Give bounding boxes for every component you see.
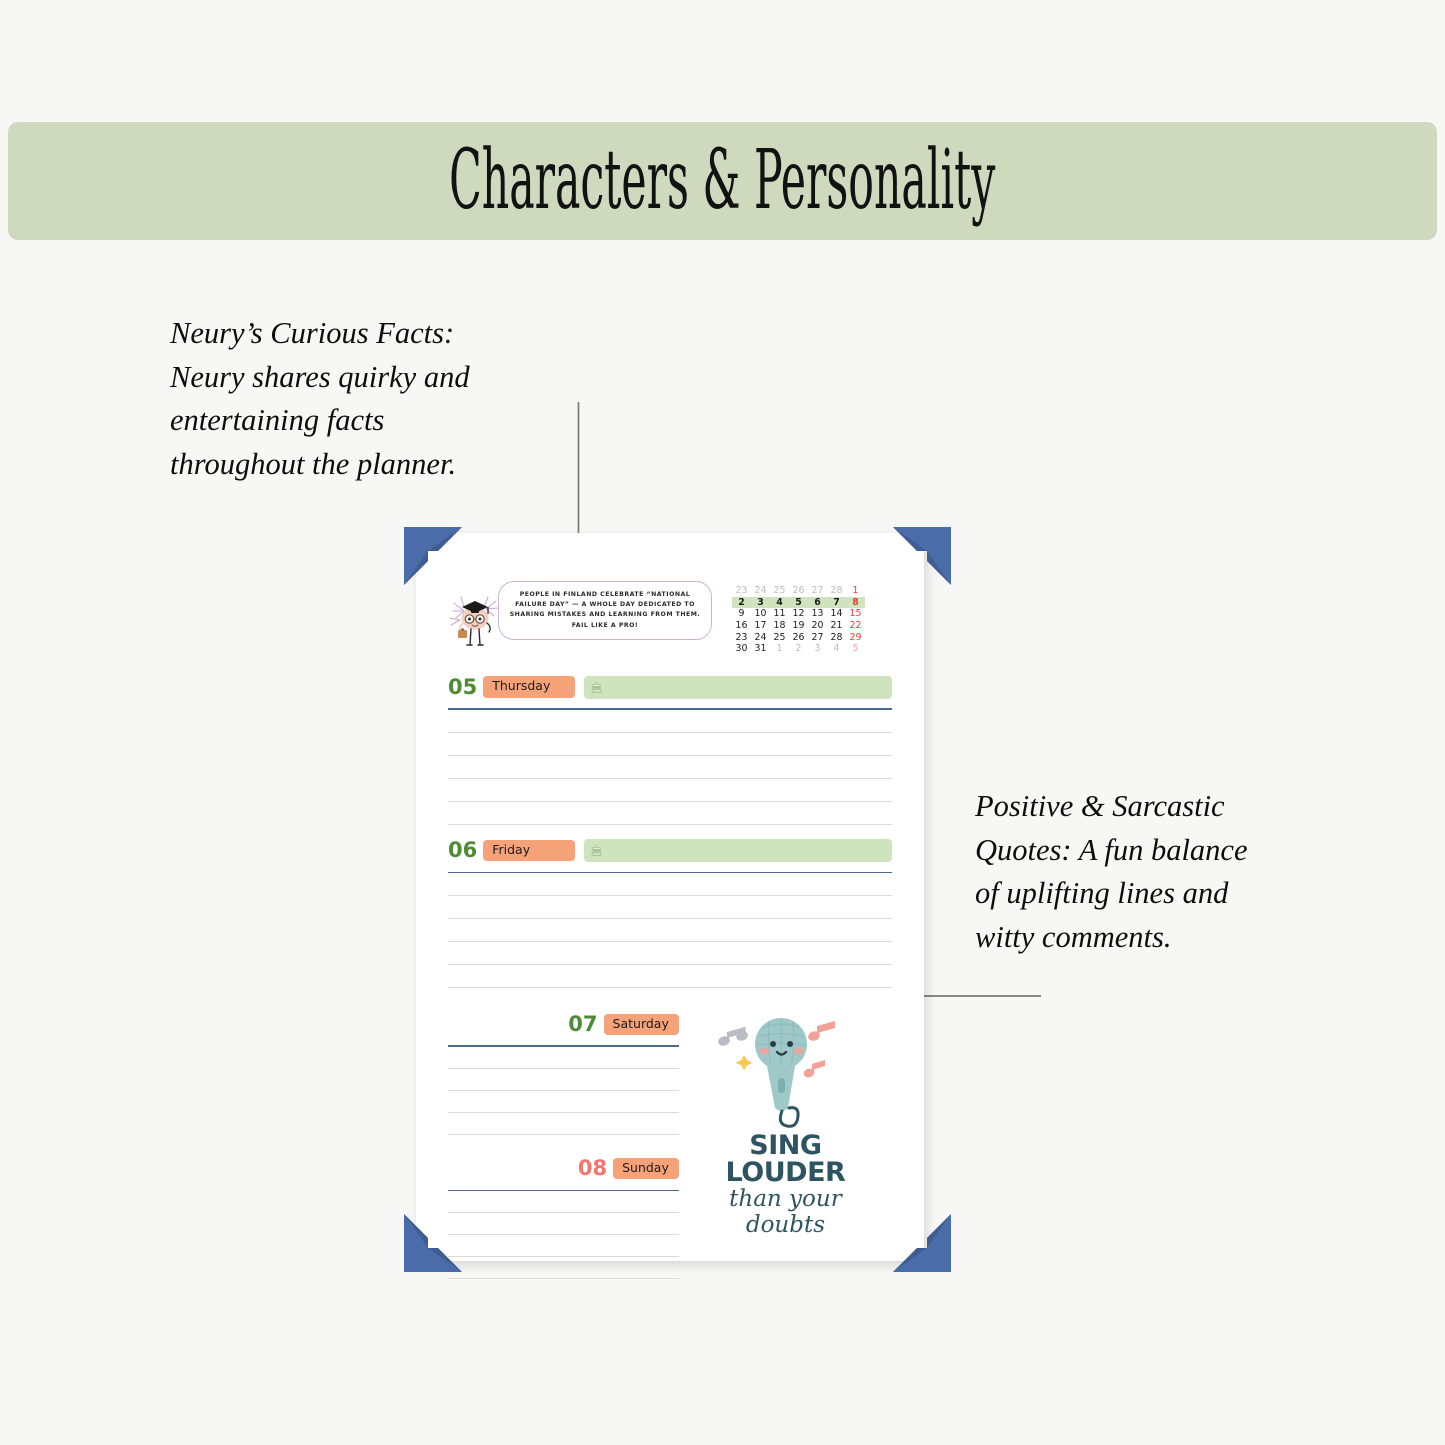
calendar-day-cell[interactable]: 4 [827, 643, 846, 655]
calendar-day-cell[interactable]: 6 [808, 597, 827, 609]
quote-script-line-1: than your [729, 1186, 842, 1212]
photo-corner-top-left [404, 527, 462, 585]
day-name-pill-friday[interactable]: Friday [483, 840, 575, 861]
calendar-day-cell[interactable]: 23 [732, 585, 751, 597]
calendar-day-cell[interactable]: 10 [751, 608, 770, 620]
rule-line [448, 778, 892, 779]
rule-line [448, 1134, 679, 1135]
quote-line-2: LOUDER [726, 1159, 846, 1186]
day-header-sunday: 08 Sunday [448, 1157, 679, 1181]
day-block-saturday: 07 Saturday [448, 1012, 679, 1135]
day-number-friday: 06 [448, 840, 477, 861]
rule-line [448, 1212, 679, 1213]
page-title: Characters & Personality [449, 140, 995, 222]
mini-calendar: 2324252627281234567891011121314151617181… [732, 585, 865, 655]
calendar-day-cell[interactable]: 24 [751, 631, 770, 643]
quote-line-1: SING [749, 1132, 821, 1159]
rule-line [448, 801, 892, 802]
rule-line [448, 1090, 679, 1091]
planner-bottom-split: 07 Saturday 08 Sunday [448, 998, 892, 1279]
event-bar-friday[interactable] [584, 839, 892, 862]
calendar-day-cell[interactable]: 29 [846, 631, 865, 643]
day-header-saturday: 07 Saturday [448, 1012, 679, 1036]
calendar-day-cell[interactable]: 30 [732, 643, 751, 655]
day-block-friday: 06 Friday [448, 839, 892, 989]
calendar-day-cell[interactable]: 2 [732, 597, 751, 609]
photo-corner-top-right [893, 527, 951, 585]
rule-navy [448, 1190, 679, 1192]
calendar-day-cell[interactable]: 31 [751, 643, 770, 655]
rule-line [448, 895, 892, 896]
calendar-day-cell[interactable]: 12 [789, 608, 808, 620]
neury-curious-facts-annotation: Neury’s Curious Facts: Neury shares quir… [170, 312, 570, 486]
calendar-day-cell[interactable]: 9 [732, 608, 751, 620]
positive-sarcastic-quotes-annotation: Positive & Sarcastic Quotes: A fun balan… [975, 785, 1315, 959]
calendar-day-cell[interactable]: 26 [789, 631, 808, 643]
calendar-day-cell[interactable]: 26 [789, 585, 808, 597]
calendar-day-cell[interactable]: 5 [789, 597, 808, 609]
calendar-day-cell[interactable]: 2 [789, 643, 808, 655]
rule-line [448, 941, 892, 942]
rule-line [448, 1234, 679, 1235]
calendar-day-cell[interactable]: 7 [827, 597, 846, 609]
calendar-day-cell[interactable]: 25 [770, 585, 789, 597]
calendar-day-cell[interactable]: 25 [770, 631, 789, 643]
rule-line [448, 987, 892, 988]
calendar-day-cell[interactable]: 14 [827, 608, 846, 620]
day-block-sunday: 08 Sunday [448, 1157, 679, 1280]
day-header-friday: 06 Friday [448, 839, 892, 863]
calendar-day-cell[interactable]: 3 [751, 597, 770, 609]
rule-line [448, 918, 892, 919]
planner-page: People in Finland celebrate “National Fa… [416, 533, 924, 1261]
rule-line [448, 1256, 679, 1257]
calendar-day-cell[interactable]: 28 [827, 631, 846, 643]
day-name-pill-thursday[interactable]: Thursday [483, 676, 575, 697]
calendar-week-row: 2324252627281 [732, 585, 865, 597]
calendar-week-row: 303112345 [732, 643, 865, 655]
quote-script-line-2: doubts [746, 1212, 825, 1238]
day-header-thursday: 05 Thursday [448, 675, 892, 699]
day-number-sunday: 08 [578, 1158, 607, 1179]
neury-speech-bubble: People in Finland celebrate “National Fa… [498, 581, 712, 640]
rule-line [448, 1112, 679, 1113]
cake-icon [590, 844, 603, 857]
day-name-pill-saturday[interactable]: Saturday [604, 1014, 679, 1035]
calendar-day-cell[interactable]: 3 [808, 643, 827, 655]
calendar-day-cell[interactable]: 22 [846, 620, 865, 632]
calendar-day-cell[interactable]: 5 [846, 643, 865, 655]
day-block-thursday: 05 Thursday [448, 675, 892, 825]
calendar-day-cell[interactable]: 1 [846, 585, 865, 597]
calendar-day-cell[interactable]: 8 [846, 597, 865, 609]
rule-line [448, 755, 892, 756]
calendar-week-row: 9101112131415 [732, 608, 865, 620]
motivational-quote-block: SING LOUDER than your doubts [679, 998, 892, 1279]
calendar-day-cell[interactable]: 19 [789, 620, 808, 632]
calendar-day-cell[interactable]: 18 [770, 620, 789, 632]
calendar-day-cell[interactable]: 28 [827, 585, 846, 597]
neury-brain-character [448, 587, 502, 654]
microphone-icon [705, 1004, 865, 1132]
rule-line [448, 824, 892, 825]
rule-navy [448, 1045, 679, 1047]
calendar-day-cell[interactable]: 13 [808, 608, 827, 620]
rule-line [448, 1278, 679, 1279]
calendar-day-cell[interactable]: 20 [808, 620, 827, 632]
calendar-day-cell[interactable]: 27 [808, 585, 827, 597]
cake-icon [590, 681, 603, 694]
event-bar-thursday[interactable] [584, 676, 892, 699]
planner-top-strip: People in Finland celebrate “National Fa… [448, 569, 892, 661]
calendar-week-row: 16171819202122 [732, 620, 865, 632]
calendar-day-cell[interactable]: 23 [732, 631, 751, 643]
rule-line [448, 1068, 679, 1069]
calendar-day-cell[interactable]: 27 [808, 631, 827, 643]
rule-navy [448, 708, 892, 710]
day-number-saturday: 07 [568, 1014, 597, 1035]
calendar-day-cell[interactable]: 11 [770, 608, 789, 620]
speech-bubble-text: People in Finland celebrate “National Fa… [509, 590, 701, 631]
calendar-week-row: 2345678 [732, 597, 865, 609]
photo-corner-bottom-right [893, 1214, 951, 1272]
day-number-thursday: 05 [448, 677, 477, 698]
rule-navy [448, 872, 892, 874]
rule-line [448, 732, 892, 733]
calendar-day-cell[interactable]: 16 [732, 620, 751, 632]
calendar-day-cell[interactable]: 15 [846, 608, 865, 620]
calendar-day-cell[interactable]: 21 [827, 620, 846, 632]
photo-corner-bottom-left [404, 1214, 462, 1272]
header-banner: Characters & Personality [8, 122, 1437, 240]
calendar-day-cell[interactable]: 24 [751, 585, 770, 597]
calendar-day-cell[interactable]: 1 [770, 643, 789, 655]
calendar-day-cell[interactable]: 4 [770, 597, 789, 609]
calendar-week-row: 23242526272829 [732, 631, 865, 643]
day-name-pill-sunday[interactable]: Sunday [613, 1158, 679, 1179]
rule-line [448, 964, 892, 965]
calendar-day-cell[interactable]: 17 [751, 620, 770, 632]
